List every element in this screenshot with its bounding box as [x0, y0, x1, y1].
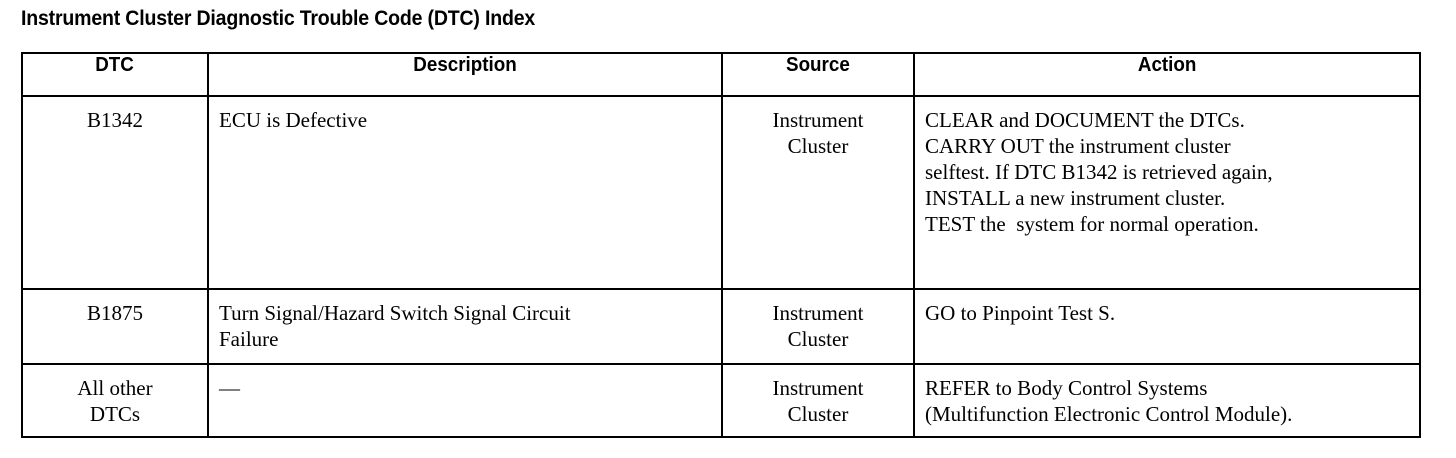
source-line-2: Cluster — [723, 133, 913, 159]
column-header-dtc-label: DTC — [96, 54, 135, 76]
table-row: All other DTCs — Instrument Cluster REFE… — [22, 364, 1420, 437]
cell-description: — — [208, 364, 722, 437]
table-body: B1342 ECU is Defective Instrument Cluste… — [22, 96, 1420, 437]
action-line-3: selftest. If DTC B1342 is retrieved agai… — [925, 159, 1411, 185]
dtc-line-2: DTCs — [23, 401, 207, 427]
source-text: Instrument Cluster — [723, 365, 913, 435]
cell-source: Instrument Cluster — [722, 96, 914, 289]
action-line-4: INSTALL a new instrument cluster. — [925, 185, 1411, 211]
table-row: B1875 Turn Signal/Hazard Switch Signal C… — [22, 289, 1420, 364]
source-text: Instrument Cluster — [723, 97, 913, 167]
action-line-1: REFER to Body Control Systems — [925, 375, 1411, 401]
cell-source: Instrument Cluster — [722, 289, 914, 364]
column-header-action: Action — [914, 53, 1420, 96]
cell-action: GO to Pinpoint Test S. — [914, 289, 1420, 364]
cell-description: Turn Signal/Hazard Switch Signal Circuit… — [208, 289, 722, 364]
action-line-1: CLEAR and DOCUMENT the DTCs. — [925, 107, 1411, 133]
column-header-description: Description — [208, 53, 722, 96]
column-header-dtc: DTC — [22, 53, 208, 96]
dtc-line-1: All other — [23, 375, 207, 401]
column-header-source-label: Source — [786, 54, 850, 76]
page-title: Instrument Cluster Diagnostic Trouble Co… — [21, 6, 535, 32]
description-text: ECU is Defective — [209, 97, 721, 141]
cell-dtc: B1342 — [22, 96, 208, 289]
column-header-source: Source — [722, 53, 914, 96]
dtc-code: All other DTCs — [23, 365, 207, 435]
dtc-code: B1875 — [23, 290, 207, 334]
action-text: GO to Pinpoint Test S. — [915, 290, 1419, 334]
description-text: — — [209, 365, 721, 409]
action-line-2: CARRY OUT the instrument cluster — [925, 133, 1411, 159]
cell-description: ECU is Defective — [208, 96, 722, 289]
cell-dtc: All other DTCs — [22, 364, 208, 437]
source-line-1: Instrument — [723, 107, 913, 133]
header-row: DTC Description Source Action — [22, 53, 1420, 96]
action-line-5: TEST the system for normal operation. — [925, 211, 1411, 237]
table-row: B1342 ECU is Defective Instrument Cluste… — [22, 96, 1420, 289]
action-line-1: GO to Pinpoint Test S. — [925, 300, 1411, 326]
source-text: Instrument Cluster — [723, 290, 913, 360]
description-line-2: Failure — [219, 326, 713, 352]
source-line-1: Instrument — [723, 375, 913, 401]
source-line-2: Cluster — [723, 401, 913, 427]
cell-action: CLEAR and DOCUMENT the DTCs. CARRY OUT t… — [914, 96, 1420, 289]
cell-action: REFER to Body Control Systems (Multifunc… — [914, 364, 1420, 437]
source-line-1: Instrument — [723, 300, 913, 326]
action-line-2: (Multifunction Electronic Control Module… — [925, 401, 1411, 427]
action-text: REFER to Body Control Systems (Multifunc… — [915, 365, 1419, 435]
source-line-2: Cluster — [723, 326, 913, 352]
description-line-1: Turn Signal/Hazard Switch Signal Circuit — [219, 300, 713, 326]
action-text: CLEAR and DOCUMENT the DTCs. CARRY OUT t… — [915, 97, 1419, 245]
column-header-description-label: Description — [413, 54, 516, 76]
cell-source: Instrument Cluster — [722, 364, 914, 437]
description-text: Turn Signal/Hazard Switch Signal Circuit… — [209, 290, 721, 360]
dtc-index-table: DTC Description Source Action B1342 ECU … — [21, 52, 1421, 438]
cell-dtc: B1875 — [22, 289, 208, 364]
column-header-action-label: Action — [1138, 54, 1196, 76]
dtc-code: B1342 — [23, 97, 207, 141]
table-header: DTC Description Source Action — [22, 53, 1420, 96]
